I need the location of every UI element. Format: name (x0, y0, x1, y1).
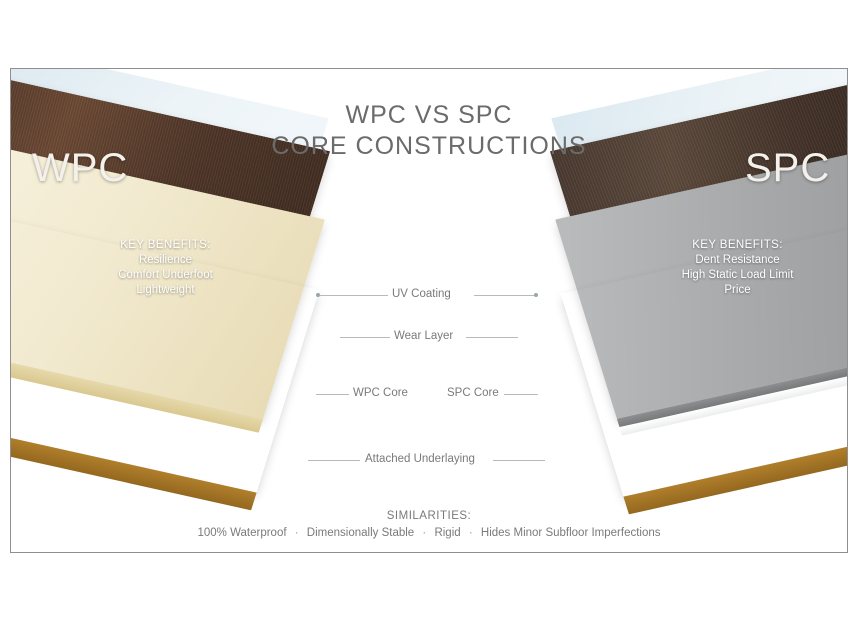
wpc-key-benefits: KEY BENEFITS: Resilience Comfort Underfo… (78, 238, 253, 298)
similarity-item: Rigid (434, 527, 460, 539)
infographic-canvas: WPC VS SPC CORE CONSTRUCTIONS WPC SPC KE… (0, 0, 858, 628)
wpc-benefit-item: Resilience (78, 253, 253, 268)
title-line-1: WPC VS SPC (346, 101, 513, 129)
spc-core-leader (504, 394, 538, 395)
wear-layer-leader-right (466, 337, 518, 338)
spc-benefit-item: High Static Load Limit (650, 268, 825, 283)
uv-coating-marker-left (316, 293, 320, 297)
similarities-list: 100% Waterproof · Dimensionally Stable ·… (0, 525, 858, 542)
wpc-benefit-item: Comfort Underfoot (78, 268, 253, 283)
callout-wear-layer: Wear Layer (394, 330, 453, 342)
callout-wpc-core: WPC Core (353, 387, 408, 399)
uv-coating-leader-left (320, 295, 388, 296)
spc-benefit-item: Dent Resistance (650, 253, 825, 268)
similarity-separator: · (417, 527, 431, 539)
wpc-benefit-item: Lightweight (78, 283, 253, 298)
callout-spc-core: SPC Core (447, 387, 499, 399)
similarity-item: 100% Waterproof (197, 527, 286, 539)
uv-coating-leader-right (474, 295, 536, 296)
uv-coating-marker-right (534, 293, 538, 297)
spc-benefits-heading: KEY BENEFITS: (650, 238, 825, 253)
spc-key-benefits: KEY BENEFITS: Dent Resistance High Stati… (650, 238, 825, 298)
similarities-section: SIMILARITIES: 100% Waterproof · Dimensio… (0, 508, 858, 542)
similarity-item: Dimensionally Stable (307, 527, 414, 539)
similarity-separator: · (464, 527, 478, 539)
wear-layer-leader-left (340, 337, 390, 338)
page-title: WPC VS SPC CORE CONSTRUCTIONS (0, 100, 858, 162)
wpc-core-leader (316, 394, 349, 395)
title-line-2: CORE CONSTRUCTIONS (0, 131, 858, 162)
underlaying-leader-right (493, 460, 545, 461)
similarity-item: Hides Minor Subfloor Imperfections (481, 527, 661, 539)
underlaying-leader-left (308, 460, 360, 461)
similarity-separator: · (290, 527, 304, 539)
wpc-benefits-heading: KEY BENEFITS: (78, 238, 253, 253)
similarities-heading: SIMILARITIES: (0, 508, 858, 525)
spc-benefit-item: Price (650, 283, 825, 298)
callout-attached-underlaying: Attached Underlaying (365, 453, 475, 465)
callout-uv-coating: UV Coating (392, 288, 451, 300)
